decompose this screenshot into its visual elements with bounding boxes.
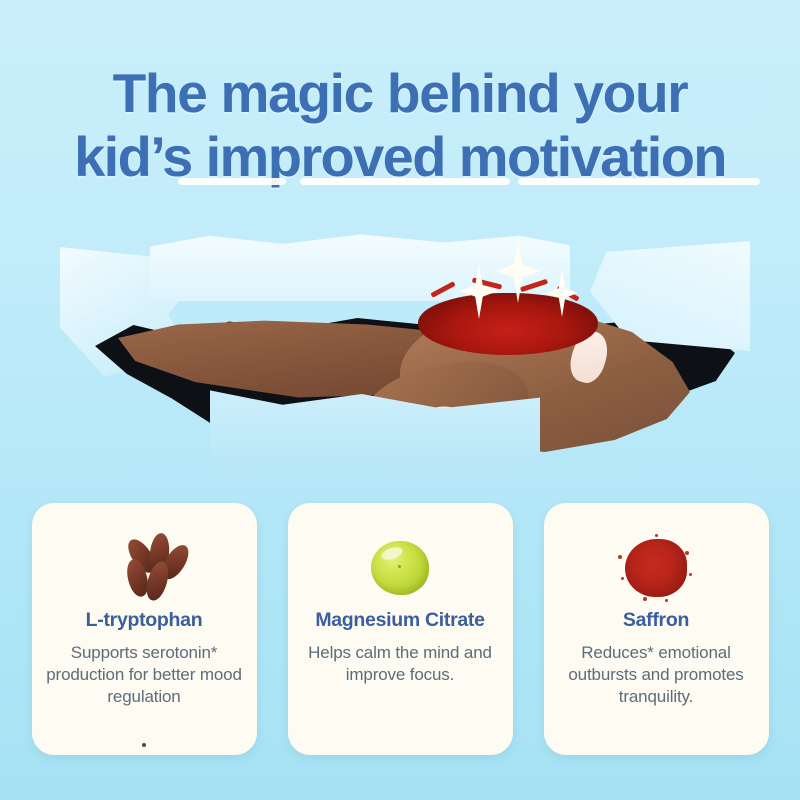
gel-drop-icon — [300, 529, 501, 607]
powder-speck — [685, 551, 689, 555]
powder-speck — [655, 534, 658, 537]
ingredient-title: Saffron — [623, 609, 689, 632]
ingredient-description: Helps calm the mind and improve focus. — [300, 642, 501, 686]
underline-segment-3 — [518, 178, 760, 185]
gel-drop-shape — [371, 541, 429, 595]
card-dot-marker — [142, 743, 146, 747]
headline-underline — [0, 178, 800, 187]
torn-paper-flap-top — [150, 233, 570, 301]
saffron-threads-pile — [418, 293, 598, 355]
powder-pile-shape — [625, 539, 687, 597]
seeds-icon — [44, 529, 245, 607]
powder-speck — [689, 573, 692, 576]
hero-image — [0, 225, 800, 490]
underline-segment-1 — [178, 178, 286, 185]
ingredient-card-l-tryptophan[interactable]: L-tryptophan Supports serotonin* product… — [32, 503, 257, 755]
powder-speck — [643, 597, 647, 601]
ingredient-description: Supports serotonin* production for bette… — [44, 642, 245, 708]
powder-icon — [556, 529, 757, 607]
ingredient-card-saffron[interactable]: Saffron Reduces* emotional outbursts and… — [544, 503, 769, 755]
ingredient-title: L-tryptophan — [86, 609, 203, 632]
underline-segment-2 — [300, 178, 510, 185]
ingredient-card-list: L-tryptophan Supports serotonin* product… — [0, 503, 800, 773]
powder-speck — [618, 555, 622, 559]
ingredient-card-magnesium-citrate[interactable]: Magnesium Citrate Helps calm the mind an… — [288, 503, 513, 755]
ingredient-description: Reduces* emotional outbursts and promote… — [556, 642, 757, 708]
gel-center-dot — [398, 565, 401, 568]
ingredient-title: Magnesium Citrate — [315, 609, 484, 632]
powder-speck — [621, 577, 624, 580]
headline-line-1: The magic behind your — [0, 62, 800, 125]
gel-highlight — [380, 545, 404, 562]
powder-speck — [665, 599, 668, 602]
page-title: The magic behind your kid’s improved mot… — [0, 62, 800, 188]
